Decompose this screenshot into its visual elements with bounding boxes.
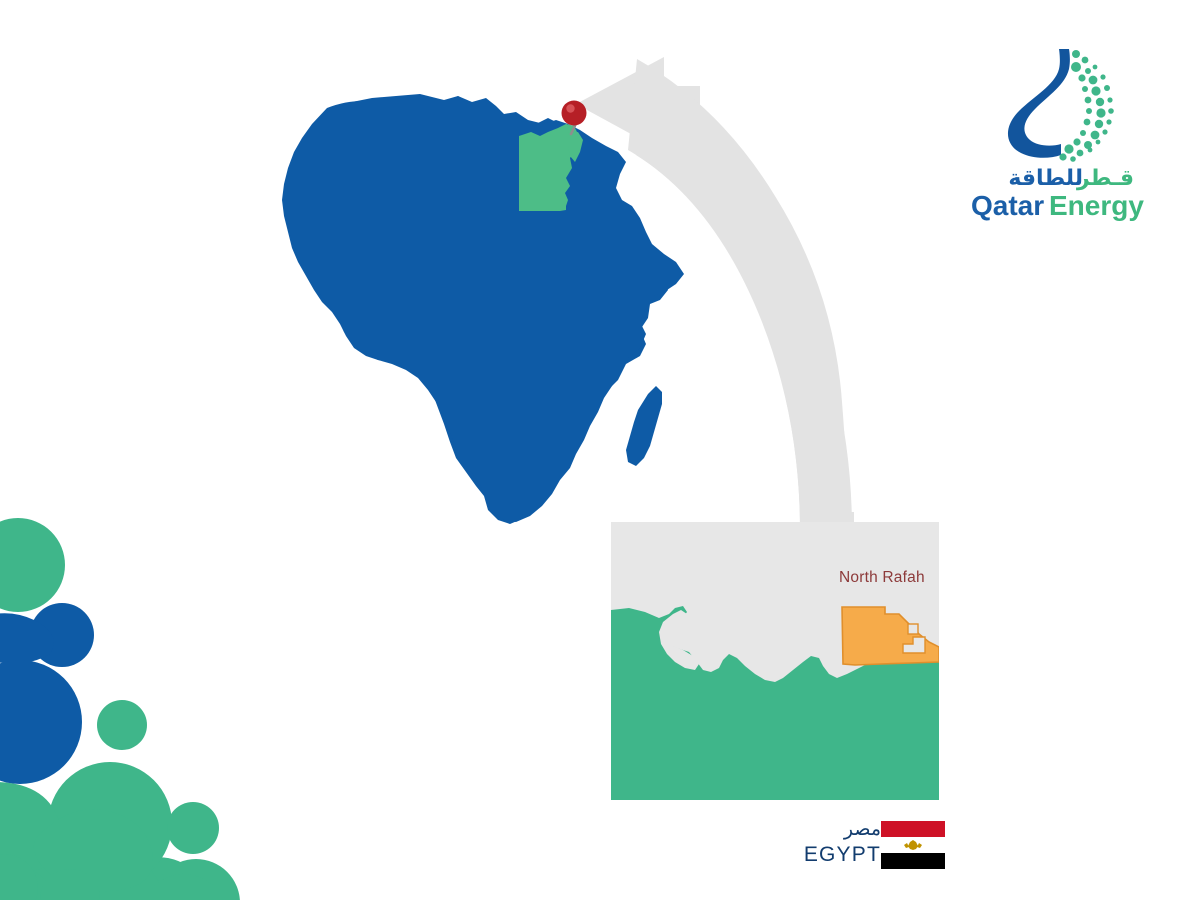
slide-canvas: للطاقة قـطر Qatar Energy North Rafah مصر… xyxy=(0,0,1200,900)
logo-arabic-part1: قـطر xyxy=(1076,166,1134,191)
egypt-flag-icon xyxy=(881,821,945,869)
qatarenergy-logo: للطاقة قـطر Qatar Energy xyxy=(965,45,1175,220)
logo-wordmark: للطاقة قـطر Qatar Energy xyxy=(965,163,1175,225)
north-rafah-inset[interactable]: North Rafah xyxy=(611,522,939,800)
north-rafah-label: North Rafah xyxy=(839,569,925,587)
country-names: مصر EGYPT xyxy=(804,818,881,868)
country-name-english: EGYPT xyxy=(804,842,881,868)
droplet-logo-icon xyxy=(977,45,1167,165)
logo-latin-energy: Energy xyxy=(1049,190,1144,221)
country-footer: مصر EGYPT xyxy=(793,818,953,880)
country-name-arabic: مصر xyxy=(804,818,881,842)
logo-latin-qatar: Qatar xyxy=(971,190,1044,221)
logo-arabic-part2: للطاقة xyxy=(1008,166,1083,191)
block-cutout-1 xyxy=(908,624,918,634)
